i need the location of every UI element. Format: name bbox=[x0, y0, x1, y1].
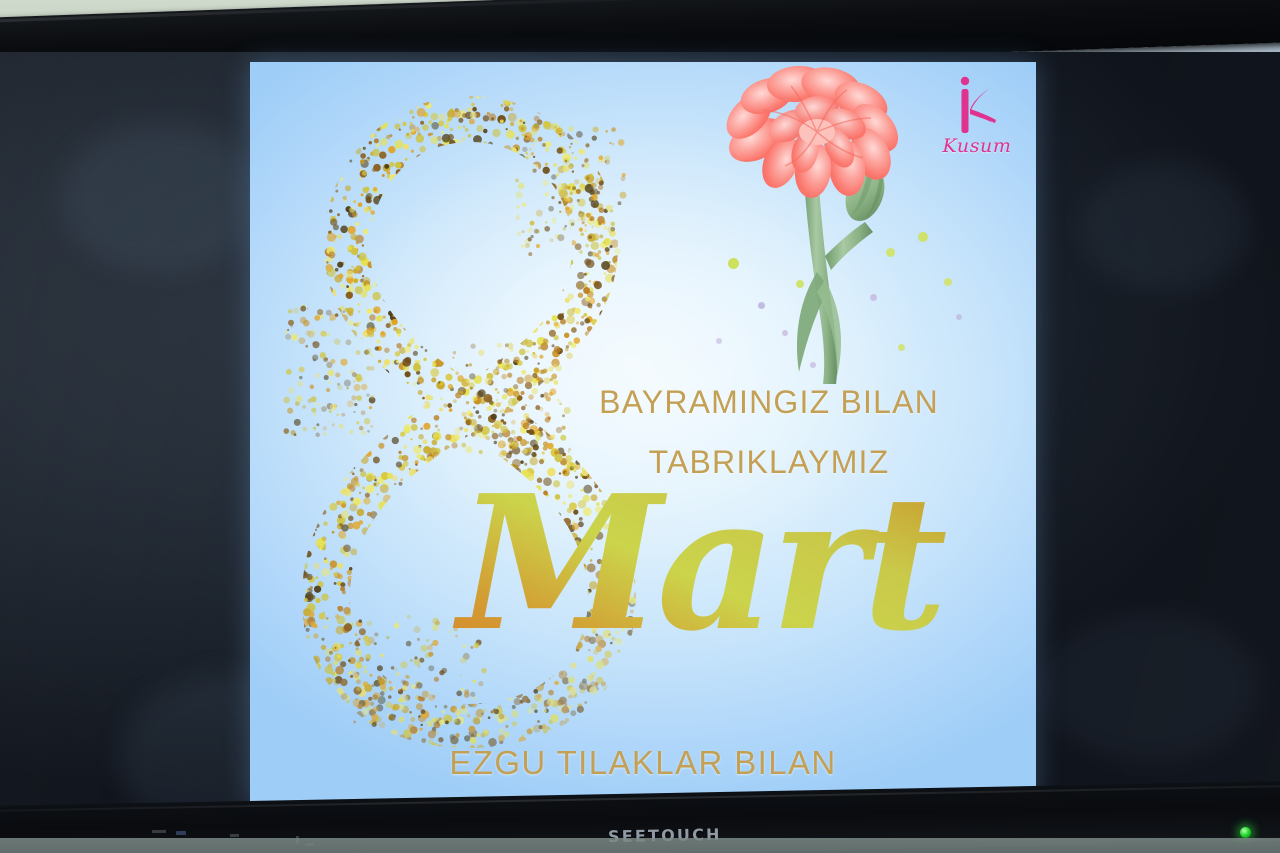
confetti-dot bbox=[944, 278, 952, 286]
carnation-flower bbox=[705, 66, 935, 386]
confetti-dot bbox=[898, 344, 905, 351]
mart-script-word: Mart bbox=[450, 462, 1010, 682]
panel-reflection bbox=[1080, 162, 1250, 292]
confetti-dot bbox=[870, 294, 877, 301]
headline-line-1: BAYRAMINGIZ BILAN bbox=[250, 384, 1036, 421]
kusum-logo: Kusum bbox=[930, 76, 1024, 172]
confetti-dot bbox=[728, 258, 739, 269]
bezel-button-mark[interactable] bbox=[176, 831, 186, 835]
computer-use-screenshot: Kusum BAYRAMINGIZ BILAN TABRIKLAYMIZ bbox=[0, 0, 1280, 853]
confetti-dot bbox=[716, 338, 722, 344]
confetti-dot bbox=[758, 302, 765, 309]
confetti-dot bbox=[782, 330, 788, 336]
confetti-dot bbox=[810, 362, 816, 368]
bottom-line: EZGU TILAKLAR BILAN bbox=[250, 744, 1036, 782]
confetti-dot bbox=[918, 232, 928, 242]
kusum-mark-icon bbox=[948, 76, 1006, 138]
panel-reflection bbox=[1040, 612, 1260, 762]
bezel-button-mark[interactable] bbox=[152, 830, 166, 833]
power-led-icon[interactable] bbox=[1240, 827, 1251, 838]
desk-surface bbox=[0, 838, 1280, 853]
confetti-dot bbox=[956, 314, 962, 320]
mart-text: Mart bbox=[452, 454, 946, 672]
presentation-slide[interactable]: Kusum BAYRAMINGIZ BILAN TABRIKLAYMIZ bbox=[250, 62, 1036, 805]
confetti-dot bbox=[796, 280, 804, 288]
panel-reflection bbox=[60, 122, 260, 272]
bezel-button-mark[interactable] bbox=[230, 834, 239, 837]
confetti-dot bbox=[886, 248, 895, 257]
kusum-wordmark: Kusum bbox=[930, 135, 1024, 157]
